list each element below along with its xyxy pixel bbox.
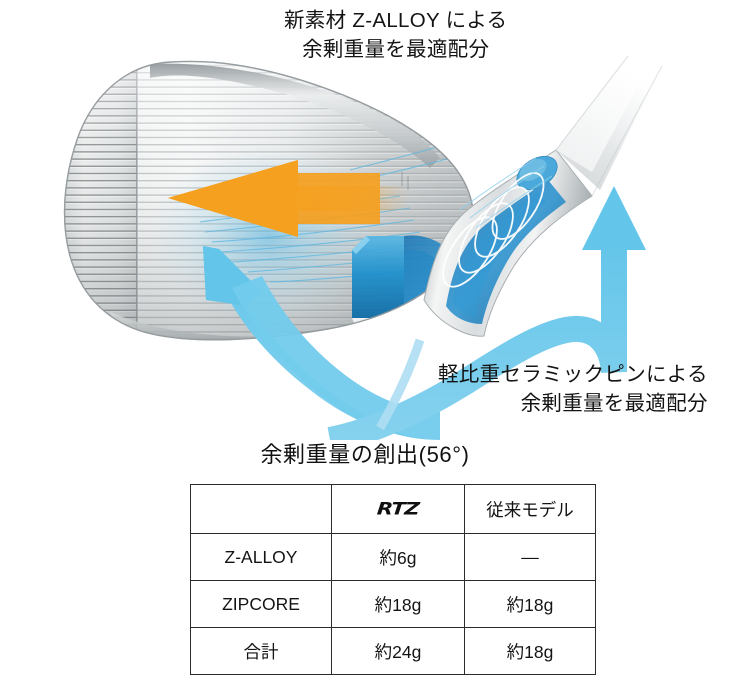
caption-bottom-line1: 軽比重セラミックピンによる bbox=[438, 360, 708, 389]
header-cell-blank bbox=[191, 485, 332, 534]
row-value-rtz-zipcore: 約18g bbox=[332, 581, 465, 628]
table-row: 合計 約24g 約18g bbox=[191, 628, 596, 675]
row-label-z-alloy: Z-ALLOY bbox=[191, 534, 332, 581]
page-root: 新素材 Z-ALLOY による 余剰重量を最適配分 軽比重セラミックピンによる … bbox=[0, 0, 730, 700]
table-row: Z-ALLOY 約6g — bbox=[191, 534, 596, 581]
caption-top-line2: 余剰重量を最適配分 bbox=[284, 35, 507, 64]
caption-bottom-line2: 余剰重量を最適配分 bbox=[438, 389, 708, 418]
caption-top-line1: 新素材 Z-ALLOY による bbox=[284, 6, 507, 35]
table-row: ZIPCORE 約18g 約18g bbox=[191, 581, 596, 628]
row-label-total: 合計 bbox=[191, 628, 332, 675]
row-value-rtz-total: 約24g bbox=[332, 628, 465, 675]
caption-bottom: 軽比重セラミックピンによる 余剰重量を最適配分 bbox=[438, 360, 708, 418]
caption-top: 新素材 Z-ALLOY による 余剰重量を最適配分 bbox=[284, 6, 507, 64]
rtz-logo: RTZ bbox=[376, 499, 419, 519]
header-cell-legacy: 従来モデル bbox=[465, 485, 596, 534]
row-label-zipcore: ZIPCORE bbox=[191, 581, 332, 628]
row-value-legacy-z-alloy: — bbox=[465, 534, 596, 581]
row-value-legacy-total: 約18g bbox=[465, 628, 596, 675]
weight-comparison-table: RTZ 従来モデル Z-ALLOY 約6g — ZIPCORE 約18g 約18… bbox=[190, 484, 596, 675]
row-value-legacy-zipcore: 約18g bbox=[465, 581, 596, 628]
table-header-row: RTZ 従来モデル bbox=[191, 485, 596, 534]
header-cell-rtz: RTZ bbox=[332, 485, 465, 534]
row-value-rtz-z-alloy: 約6g bbox=[332, 534, 465, 581]
table-title: 余剰重量の創出(56°) bbox=[0, 437, 730, 469]
